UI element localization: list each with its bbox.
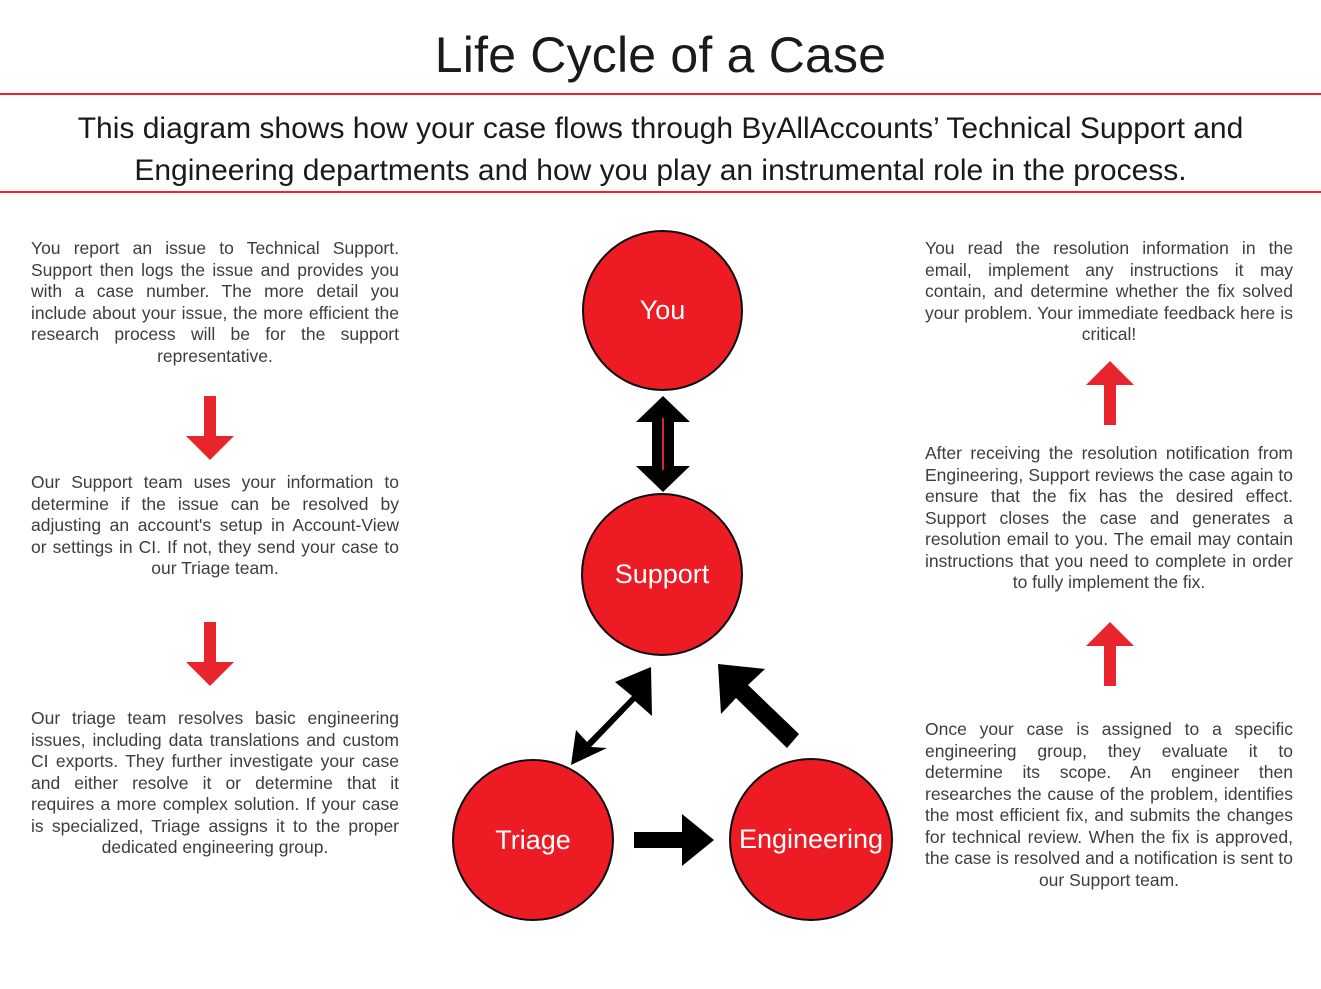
page-title: Life Cycle of a Case <box>0 26 1321 84</box>
arrow-triage-engineering-icon <box>634 812 716 868</box>
right-step-3-text: Once your case is assigned to a specific… <box>925 719 1293 891</box>
node-you[interactable]: You <box>582 230 743 391</box>
node-triage[interactable]: Triage <box>452 759 614 921</box>
left-step-3-text: Our triage team resolves basic engineeri… <box>31 708 399 859</box>
arrow-engineering-support-icon <box>703 662 803 772</box>
left-step-2-text: Our Support team uses your information t… <box>31 472 399 580</box>
header-divider-bottom <box>0 191 1321 193</box>
right-step-2-text: After receiving the resolution notificat… <box>925 443 1293 594</box>
page-subtitle: This diagram shows how your case flows t… <box>8 108 1313 192</box>
double-arrow-support-triage-icon <box>556 662 668 772</box>
header-divider-top <box>0 93 1321 95</box>
up-arrow-icon <box>1084 622 1136 688</box>
node-triage-label: Triage <box>495 827 571 854</box>
node-you-label: You <box>640 297 686 324</box>
node-engineering[interactable]: Engineering <box>729 758 893 921</box>
right-step-1-text: You read the resolution information in t… <box>925 238 1293 346</box>
down-arrow-icon <box>184 622 236 688</box>
node-engineering-label: Engineering <box>739 826 883 853</box>
down-arrow-icon <box>184 396 236 462</box>
node-support-label: Support <box>615 561 710 588</box>
node-support[interactable]: Support <box>581 493 743 656</box>
double-arrow-you-support-icon <box>633 396 693 492</box>
up-arrow-icon <box>1084 361 1136 427</box>
left-step-1-text: You report an issue to Technical Support… <box>31 238 399 367</box>
